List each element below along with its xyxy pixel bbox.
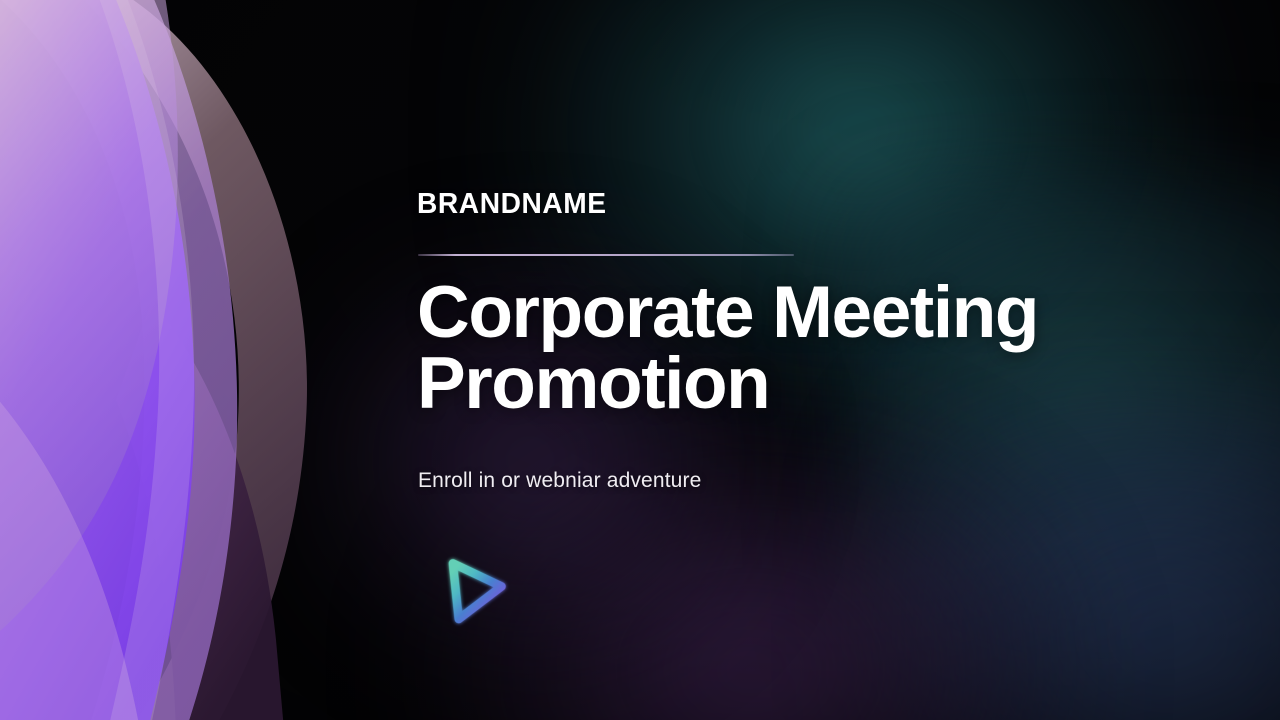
play-triangle-path xyxy=(453,559,505,620)
decorative-ribbons xyxy=(0,0,330,720)
headline-line-1: Corporate Meeting xyxy=(417,278,1187,349)
play-button[interactable] xyxy=(433,548,521,636)
headline-line-2: Promotion xyxy=(417,349,1187,420)
ribbon-waves-svg xyxy=(0,0,330,720)
play-triangle-outline-icon xyxy=(433,548,521,636)
content-block: BRANDNAME Corporate Meeting Promotion En… xyxy=(417,0,1177,720)
promo-slide: BRANDNAME Corporate Meeting Promotion En… xyxy=(0,0,1280,720)
page-title: Corporate Meeting Promotion xyxy=(417,278,1187,420)
title-divider xyxy=(418,254,794,256)
subtitle: Enroll in or webniar adventure xyxy=(418,468,702,493)
brand-name: BRANDNAME xyxy=(417,190,607,219)
